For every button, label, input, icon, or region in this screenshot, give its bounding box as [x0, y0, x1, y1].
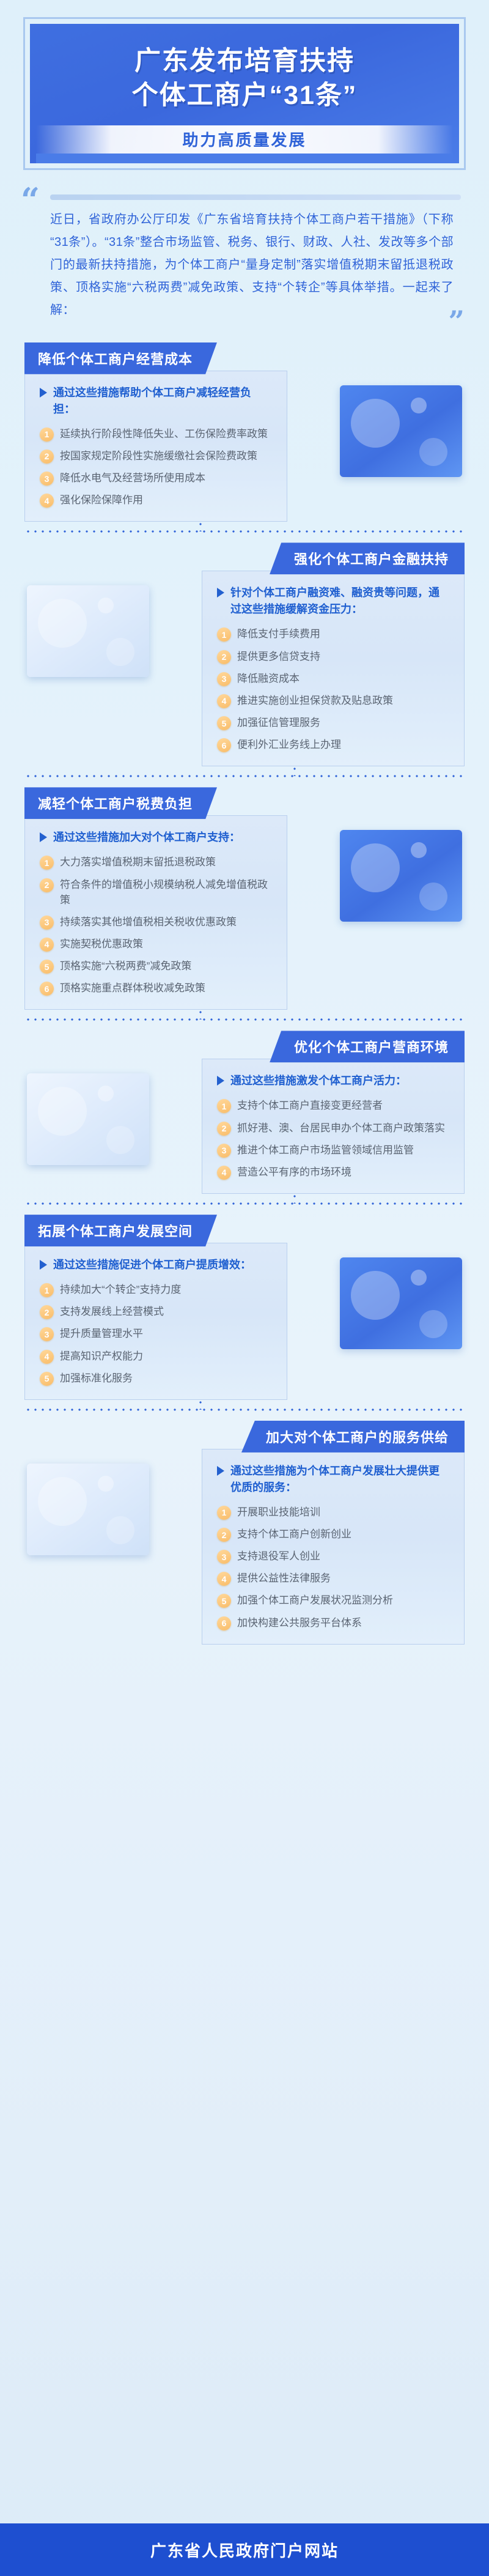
item-number-badge: 1	[217, 1099, 231, 1113]
mobile-payment-hand-illustration	[340, 385, 462, 477]
item-number-badge: 3	[40, 916, 54, 930]
list-item-text: 降低水电气及经营场所使用成本	[60, 470, 205, 486]
item-number-badge: 4	[40, 1350, 54, 1364]
section-body: 拓展个体工商户发展空间通过这些措施促进个体工商户提质增效：1持续加大“个转企”支…	[0, 1215, 489, 1400]
list-item: 4提供公益性法律服务	[217, 1571, 449, 1586]
dotted-connector-horizontal	[24, 1202, 465, 1205]
dotted-connector-horizontal	[24, 1408, 465, 1411]
header: 广东发布培育扶持 个体工商户“31条” 助力高质量发展	[0, 0, 489, 170]
item-number-badge: 2	[40, 450, 54, 464]
item-number-badge: 5	[217, 1594, 231, 1608]
item-number-badge: 3	[40, 472, 54, 486]
list-item-text: 支持个体工商户直接变更经营者	[237, 1098, 383, 1113]
list-item: 3降低水电气及经营场所使用成本	[40, 470, 272, 486]
list-item: 1持续加大“个转企”支持力度	[40, 1282, 272, 1297]
header-frame: 广东发布培育扶持 个体工商户“31条” 助力高质量发展	[23, 17, 466, 170]
list-item-text: 支持发展线上经营模式	[60, 1304, 164, 1319]
section-lead: 通过这些措施帮助个体工商户减轻经营负担：	[40, 385, 272, 418]
list-item-text: 持续落实其他增值税相关税收优惠政策	[60, 914, 237, 930]
section-lead: 通过这些措施激发个体工商户活力：	[217, 1073, 449, 1089]
list-item-text: 加强标准化服务	[60, 1371, 133, 1386]
list-item: 5加强个体工商户发展状况监测分析	[217, 1593, 449, 1608]
list-item-text: 加快构建公共服务平台体系	[237, 1615, 362, 1630]
section-ribbon-row: 拓展个体工商户发展空间	[24, 1215, 465, 1246]
measure-list: 1大力落实增值税期末留抵退税政策2符合条件的增值税小规模纳税人减免增值税政策3持…	[40, 854, 272, 996]
list-item: 2提供更多信贷支持	[217, 649, 449, 664]
item-number-badge: 6	[217, 1616, 231, 1630]
section-5: 拓展个体工商户发展空间通过这些措施促进个体工商户提质增效：1持续加大“个转企”支…	[0, 1215, 489, 1400]
section-lead-text: 通过这些措施帮助个体工商户减轻经营负担：	[53, 385, 272, 418]
list-item: 5加强征信管理服务	[217, 715, 449, 730]
list-item: 1开展职业技能培训	[217, 1505, 449, 1520]
section-lead: 通过这些措施促进个体工商户提质增效：	[40, 1257, 272, 1273]
list-item: 2按国家规定阶段性实施缓缴社会保险费政策	[40, 448, 272, 464]
item-number-badge: 6	[217, 738, 231, 752]
list-item: 2支持个体工商户创新创业	[217, 1527, 449, 1542]
page-title: 广东发布培育扶持 个体工商户“31条”	[36, 45, 453, 113]
dotted-connector-horizontal	[24, 530, 465, 533]
section-1: 降低个体工商户经营成本通过这些措施帮助个体工商户减轻经营负担：1延续执行阶段性降…	[0, 342, 489, 522]
tax-desk-illustration	[340, 830, 462, 922]
triangle-bullet-icon	[217, 1076, 224, 1086]
list-item: 1延续执行阶段性降低失业、工伤保险费率政策	[40, 426, 272, 442]
open-book-illustration	[27, 1464, 149, 1555]
section-lead: 通过这些措施加大对个体工商户支持：	[40, 829, 272, 846]
list-item-text: 强化保险保障作用	[60, 492, 143, 508]
list-item-text: 大力落实增值税期末留抵退税政策	[60, 854, 216, 870]
sections-list: 降低个体工商户经营成本通过这些措施帮助个体工商户减轻经营负担：1延续执行阶段性降…	[0, 342, 489, 1645]
list-item: 2符合条件的增值税小规模纳税人减免增值税政策	[40, 877, 272, 908]
item-number-badge: 2	[217, 1122, 231, 1136]
list-item: 2抓好港、澳、台居民申办个体工商户政策落实	[217, 1120, 449, 1136]
section-3: 减轻个体工商户税费负担通过这些措施加大对个体工商户支持：1大力落实增值税期末留抵…	[0, 787, 489, 1010]
list-item-text: 加强个体工商户发展状况监测分析	[237, 1593, 393, 1608]
measure-list: 1开展职业技能培训2支持个体工商户创新创业3支持退役军人创业4提供公益性法律服务…	[217, 1505, 449, 1630]
list-item-text: 实施契税优惠政策	[60, 936, 143, 952]
section-lead: 通过这些措施为个体工商户发展壮大提供更优质的服务：	[217, 1463, 449, 1496]
item-number-badge: 3	[217, 672, 231, 686]
section-ribbon-title: 降低个体工商户经营成本	[24, 342, 217, 374]
section-card: 针对个体工商户融资难、融资贵等问题，通过这些措施缓解资金压力：1降低支付手续费用…	[202, 571, 465, 766]
section-card: 通过这些措施帮助个体工商户减轻经营负担：1延续执行阶段性降低失业、工伤保险费率政…	[24, 371, 287, 522]
measure-list: 1降低支付手续费用2提供更多信贷支持3降低融资成本4推进实施创业担保贷款及贴息政…	[217, 626, 449, 752]
item-number-badge: 2	[217, 650, 231, 664]
list-item: 5加强标准化服务	[40, 1371, 272, 1386]
dotted-connector-horizontal	[24, 1018, 465, 1021]
list-item-text: 便利外汇业务线上办理	[237, 737, 341, 752]
list-item: 5顶格实施“六税两费”减免政策	[40, 958, 272, 974]
list-item-text: 提供更多信贷支持	[237, 649, 320, 664]
list-item: 4强化保险保障作用	[40, 492, 272, 508]
list-item-text: 推进个体工商户市场监管领域信用监管	[237, 1142, 414, 1158]
section-4: 优化个体工商户营商环境通过这些措施激发个体工商户活力：1支持个体工商户直接变更经…	[0, 1031, 489, 1194]
section-ribbon-title: 拓展个体工商户发展空间	[24, 1215, 217, 1246]
measure-list: 1支持个体工商户直接变更经营者2抓好港、澳、台居民申办个体工商户政策落实3推进个…	[217, 1098, 449, 1180]
laptop-cloud-illustration	[27, 1073, 149, 1165]
section-body: 减轻个体工商户税费负担通过这些措施加大对个体工商户支持：1大力落实增值税期末留抵…	[0, 787, 489, 1010]
list-item-text: 顶格实施“六税两费”减免政策	[60, 958, 191, 974]
list-item: 3提升质量管理水平	[40, 1326, 272, 1341]
section-body: 强化个体工商户金融扶持针对个体工商户融资难、融资贵等问题，通过这些措施缓解资金压…	[0, 542, 489, 766]
section-2: 强化个体工商户金融扶持针对个体工商户融资难、融资贵等问题，通过这些措施缓解资金压…	[0, 542, 489, 766]
header-banner: 广东发布培育扶持 个体工商户“31条” 助力高质量发展	[30, 24, 459, 163]
list-item-text: 降低支付手续费用	[237, 626, 320, 642]
section-card: 通过这些措施促进个体工商户提质增效：1持续加大“个转企”支持力度2支持发展线上经…	[24, 1243, 287, 1400]
section-lead-text: 通过这些措施为个体工商户发展壮大提供更优质的服务：	[230, 1463, 449, 1496]
item-number-badge: 3	[40, 1327, 54, 1341]
section-card: 通过这些措施为个体工商户发展壮大提供更优质的服务：1开展职业技能培训2支持个体工…	[202, 1449, 465, 1645]
dotted-connector-horizontal	[24, 775, 465, 777]
list-item-text: 提供公益性法律服务	[237, 1571, 331, 1586]
section-ribbon-row: 优化个体工商户营商环境	[24, 1031, 465, 1062]
page-title-line1: 广东发布培育扶持	[36, 45, 453, 79]
item-number-badge: 6	[40, 982, 54, 996]
list-item: 4营造公平有序的市场环境	[217, 1164, 449, 1180]
list-item: 1支持个体工商户直接变更经营者	[217, 1098, 449, 1113]
item-number-badge: 1	[40, 427, 54, 442]
list-item-text: 符合条件的增值税小规模纳税人减免增值税政策	[60, 877, 272, 908]
intro-divider	[50, 194, 461, 200]
list-item: 4实施契税优惠政策	[40, 936, 272, 952]
list-item-text: 延续执行阶段性降低失业、工伤保险费率政策	[60, 426, 268, 442]
list-item: 1大力落实增值税期末留抵退税政策	[40, 854, 272, 870]
item-number-badge: 5	[217, 716, 231, 730]
list-item-text: 抓好港、澳、台居民申办个体工商户政策落实	[237, 1120, 445, 1136]
section-lead-text: 通过这些措施促进个体工商户提质增效：	[53, 1257, 251, 1273]
section-lead: 针对个体工商户融资难、融资贵等问题，通过这些措施缓解资金压力：	[217, 585, 449, 618]
list-item: 2支持发展线上经营模式	[40, 1304, 272, 1319]
item-number-badge: 5	[40, 1372, 54, 1386]
section-body: 加大对个体工商户的服务供给通过这些措施为个体工商户发展壮大提供更优质的服务：1开…	[0, 1421, 489, 1645]
list-item-text: 降低融资成本	[237, 671, 300, 686]
quote-close-icon: ”	[449, 310, 465, 333]
list-item: 6便利外汇业务线上办理	[217, 737, 449, 752]
item-number-badge: 2	[40, 878, 54, 892]
quote-open-icon: “	[21, 187, 40, 213]
list-item-text: 顶格实施重点群体税收减免政策	[60, 980, 205, 996]
section-ribbon-title: 优化个体工商户营商环境	[270, 1031, 465, 1062]
list-item: 4提高知识产权能力	[40, 1349, 272, 1364]
page-subtitle: 助力高质量发展	[182, 128, 306, 150]
footer-site-name: 广东省人民政府门户网站	[150, 2539, 339, 2561]
item-number-badge: 1	[217, 627, 231, 642]
item-number-badge: 4	[217, 1572, 231, 1586]
item-number-badge: 2	[40, 1305, 54, 1319]
list-item: 1降低支付手续费用	[217, 626, 449, 642]
section-lead-text: 通过这些措施激发个体工商户活力：	[230, 1073, 406, 1089]
item-number-badge: 4	[40, 494, 54, 508]
item-number-badge: 4	[217, 694, 231, 708]
list-item: 3推进个体工商户市场监管领域信用监管	[217, 1142, 449, 1158]
list-item: 3降低融资成本	[217, 671, 449, 686]
section-card: 通过这些措施加大对个体工商户支持：1大力落实增值税期末留抵退税政策2符合条件的增…	[24, 815, 287, 1010]
list-item-text: 提高知识产权能力	[60, 1349, 143, 1364]
page-title-line2: 个体工商户“31条”	[36, 79, 453, 113]
triangle-bullet-icon	[40, 1260, 47, 1270]
list-item-text: 支持退役军人创业	[237, 1549, 320, 1564]
section-body: 优化个体工商户营商环境通过这些措施激发个体工商户活力：1支持个体工商户直接变更经…	[0, 1031, 489, 1194]
list-item-text: 推进实施创业担保贷款及贴息政策	[237, 693, 393, 708]
list-item-text: 按国家规定阶段性实施缓缴社会保险费政策	[60, 448, 257, 464]
item-number-badge: 1	[40, 1283, 54, 1297]
list-item-text: 加强征信管理服务	[237, 715, 320, 730]
footer-bar: 广东省人民政府门户网站	[0, 2523, 489, 2576]
item-number-badge: 3	[217, 1144, 231, 1158]
section-lead-text: 通过这些措施加大对个体工商户支持：	[53, 829, 240, 846]
section-ribbon-title: 强化个体工商户金融扶持	[270, 542, 465, 574]
item-number-badge: 2	[217, 1528, 231, 1542]
list-item-text: 营造公平有序的市场环境	[237, 1164, 351, 1180]
list-item: 6顶格实施重点群体税收减免政策	[40, 980, 272, 996]
item-number-badge: 4	[217, 1166, 231, 1180]
item-number-badge: 4	[40, 938, 54, 952]
section-ribbon-row: 降低个体工商户经营成本	[24, 342, 465, 374]
section-ribbon-title: 加大对个体工商户的服务供给	[241, 1421, 465, 1453]
section-lead-text: 针对个体工商户融资难、融资贵等问题，通过这些措施缓解资金压力：	[230, 585, 449, 618]
section-card: 通过这些措施激发个体工商户活力：1支持个体工商户直接变更经营者2抓好港、澳、台居…	[202, 1059, 465, 1194]
list-item: 6加快构建公共服务平台体系	[217, 1615, 449, 1630]
item-number-badge: 3	[217, 1550, 231, 1564]
triangle-bullet-icon	[40, 388, 47, 398]
intro-block: “ 近日，省政府办公厅印发《广东省培育扶持个体工商户若干措施》（下称“31条”）…	[0, 170, 489, 322]
item-number-badge: 1	[40, 856, 54, 870]
measure-list: 1持续加大“个转企”支持力度2支持发展线上经营模式3提升质量管理水平4提高知识产…	[40, 1282, 272, 1386]
section-ribbon-row: 强化个体工商户金融扶持	[24, 542, 465, 574]
people-with-phone-illustration	[27, 585, 149, 677]
list-item-text: 持续加大“个转企”支持力度	[60, 1282, 181, 1297]
intro-paragraph: 近日，省政府办公厅印发《广东省培育扶持个体工商户若干措施》（下称“31条”）。“…	[28, 209, 461, 322]
item-number-badge: 5	[40, 960, 54, 974]
list-item-text: 开展职业技能培训	[237, 1505, 320, 1520]
section-ribbon-title: 减轻个体工商户税费负担	[24, 787, 217, 819]
section-ribbon-row: 减轻个体工商户税费负担	[24, 787, 465, 819]
triangle-bullet-icon	[217, 588, 224, 598]
header-bottom-fill	[36, 154, 453, 163]
header-subtitle-band: 助力高质量发展	[36, 125, 453, 154]
section-body: 降低个体工商户经营成本通过这些措施帮助个体工商户减轻经营负担：1延续执行阶段性降…	[0, 342, 489, 522]
list-item: 4推进实施创业担保贷款及贴息政策	[217, 693, 449, 708]
section-ribbon-row: 加大对个体工商户的服务供给	[24, 1421, 465, 1453]
list-item: 3支持退役军人创业	[217, 1549, 449, 1564]
section-6: 加大对个体工商户的服务供给通过这些措施为个体工商户发展壮大提供更优质的服务：1开…	[0, 1421, 489, 1645]
list-item-text: 提升质量管理水平	[60, 1326, 143, 1341]
measure-list: 1延续执行阶段性降低失业、工伤保险费率政策2按国家规定阶段性实施缓缴社会保险费政…	[40, 426, 272, 508]
list-item-text: 支持个体工商户创新创业	[237, 1527, 351, 1542]
list-item: 3持续落实其他增值税相关税收优惠政策	[40, 914, 272, 930]
triangle-bullet-icon	[217, 1466, 224, 1476]
item-number-badge: 1	[217, 1506, 231, 1520]
handshake-gear-illustration	[340, 1257, 462, 1349]
triangle-bullet-icon	[40, 832, 47, 842]
